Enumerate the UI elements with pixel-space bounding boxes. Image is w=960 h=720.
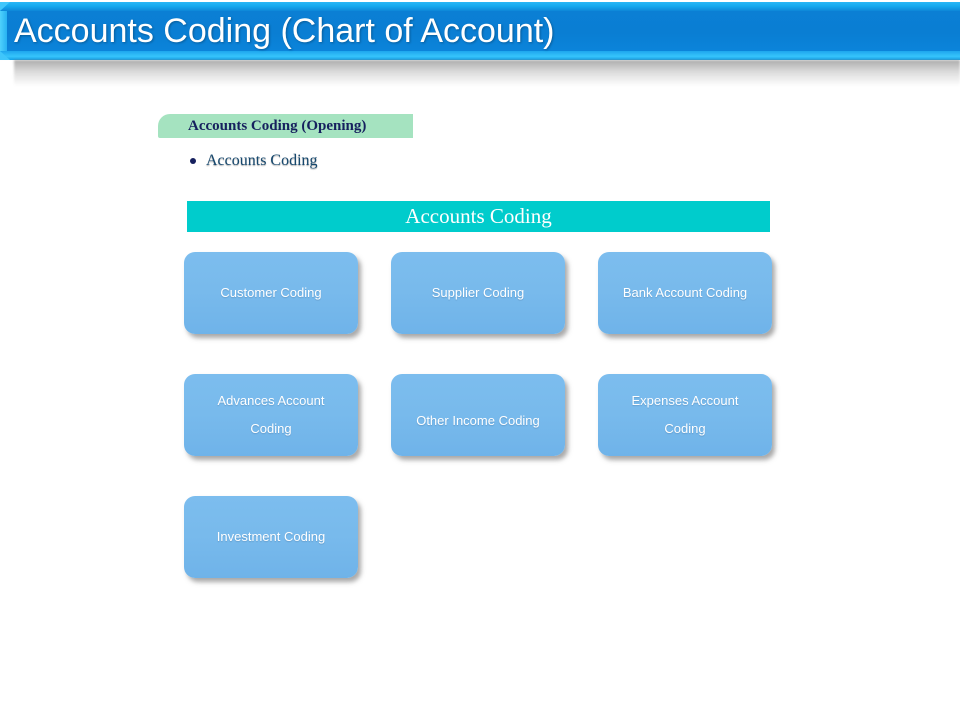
node-label: Investment Coding bbox=[217, 523, 325, 551]
node-label: Other Income Coding bbox=[416, 407, 540, 435]
slide-title: Accounts Coding (Chart of Account) bbox=[14, 8, 555, 54]
diagram-header-bar: Accounts Coding bbox=[187, 201, 770, 232]
diagram-header-label: Accounts Coding bbox=[405, 204, 551, 229]
node-label: Customer Coding bbox=[220, 279, 321, 307]
node-label: Bank Account Coding bbox=[623, 279, 747, 307]
title-banner-left-face bbox=[0, 11, 7, 51]
node-label: Coding bbox=[250, 415, 291, 443]
node-box-other-income-coding[interactable]: Other Income Coding bbox=[391, 374, 565, 456]
node-label: Expenses Account bbox=[632, 387, 739, 415]
title-banner-left-bottom-chamfer bbox=[0, 51, 10, 60]
bullet-dot-icon bbox=[190, 158, 196, 164]
section-label-banner: Accounts Coding (Opening) bbox=[158, 114, 413, 138]
node-box-bank-account-coding[interactable]: Bank Account Coding bbox=[598, 252, 772, 334]
node-box-advances-account-coding[interactable]: Advances AccountCoding bbox=[184, 374, 358, 456]
node-label: Supplier Coding bbox=[432, 279, 525, 307]
node-box-customer-coding[interactable]: Customer Coding bbox=[184, 252, 358, 334]
node-box-supplier-coding[interactable]: Supplier Coding bbox=[391, 252, 565, 334]
title-banner-drop-shadow bbox=[14, 60, 960, 86]
section-label-text: Accounts Coding (Opening) bbox=[188, 114, 366, 138]
node-label: Advances Account bbox=[218, 387, 325, 415]
node-box-expenses-account-coding[interactable]: Expenses AccountCoding bbox=[598, 374, 772, 456]
bullet-item-label: Accounts Coding bbox=[206, 150, 318, 172]
title-banner-left-top-chamfer bbox=[0, 2, 10, 11]
slide-title-banner: Accounts Coding (Chart of Account) bbox=[0, 2, 960, 60]
node-box-investment-coding[interactable]: Investment Coding bbox=[184, 496, 358, 578]
node-label: Coding bbox=[664, 415, 705, 443]
